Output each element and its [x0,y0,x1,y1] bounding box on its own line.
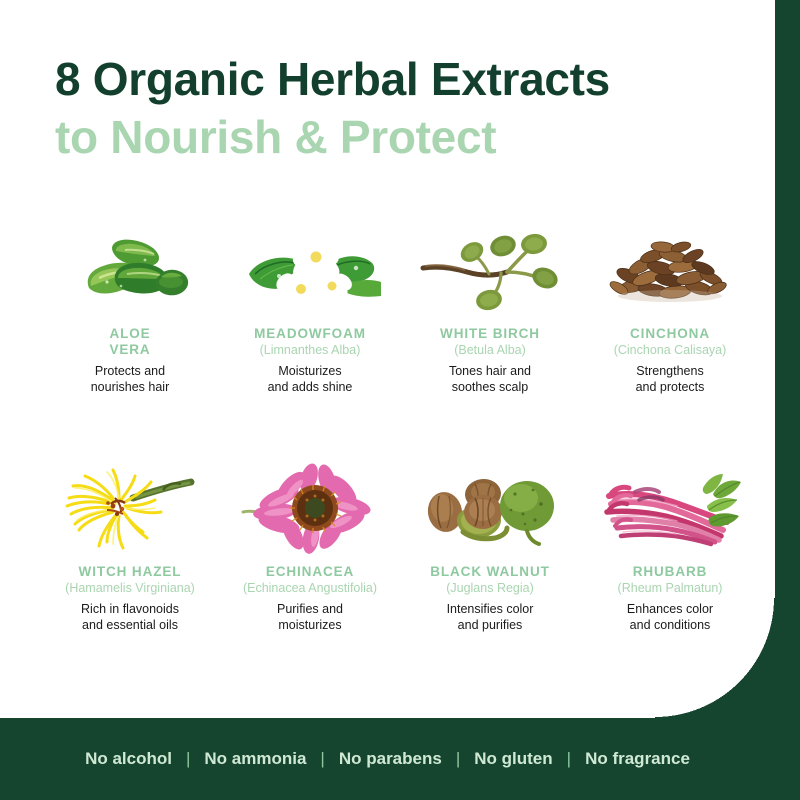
ingredient-name: WHITE BIRCH [440,326,540,342]
claim-no-parabens: No parabens [325,749,456,769]
title-secondary: to Nourish & Protect [55,110,715,164]
ingredient-name: ECHINACEA [266,564,354,580]
ingredient-card-echinacea: ECHINACEA (Echinacea Angustifolia) Purif… [220,454,400,644]
title-primary: 8 Organic Herbal Extracts [55,52,715,106]
ingredient-card-rhubarb: RHUBARB (Rheum Palmatun) Enhances color … [580,454,760,644]
meadowfoam-flower-icon [235,216,385,316]
aloe-vera-leaves-icon [55,216,205,316]
desc-line1: Purifies and [277,601,343,617]
ingredient-latin-name: (Hamamelis Virginiana) [65,580,195,596]
desc-line1: Enhances color [627,601,713,617]
ingredient-description: Protects and nourishes hair [91,363,170,395]
desc-line2: nourishes hair [91,379,170,395]
ingredient-latin-name: (Limnanthes Alba) [260,342,361,358]
ingredient-name: BLACK WALNUT [430,564,550,580]
ingredient-description: Moisturizes and adds shine [268,363,353,395]
desc-line2: soothes scalp [449,379,531,395]
desc-line2: and protects [636,379,705,395]
right-border-strip [775,0,800,800]
ingredient-name: RHUBARB [633,564,708,580]
ingredient-description: Rich in flavonoids and essential oils [81,601,179,633]
desc-line2: and adds shine [268,379,353,395]
ingredient-card-white-birch: WHITE BIRCH (Betula Alba) Tones hair and… [400,216,580,406]
black-walnut-icon [415,454,565,554]
ingredient-name-line1: ALOE [109,326,150,341]
desc-line1: Intensifies color [447,601,534,617]
ingredient-card-black-walnut: BLACK WALNUT (Juglans Regia) Intensifies… [400,454,580,644]
echinacea-flower-icon [235,454,385,554]
ingredient-description: Strengthens and protects [636,363,705,395]
desc-line1: Rich in flavonoids [81,601,179,617]
ingredient-name: MEADOWFOAM [254,326,366,342]
page-title: 8 Organic Herbal Extracts to Nourish & P… [55,52,715,164]
desc-line1: Protects and [91,363,170,379]
claim-no-alcohol: No alcohol [71,749,186,769]
ingredient-latin-name: (Cinchona Calisaya) [614,342,727,358]
ingredient-name: WITCH HAZEL [79,564,182,580]
infographic-poster: 8 Organic Herbal Extracts to Nourish & P… [0,0,800,800]
claim-no-fragrance: No fragrance [571,749,704,769]
desc-line2: and conditions [627,617,713,633]
claim-no-ammonia: No ammonia [190,749,320,769]
ingredient-card-witch-hazel: WITCH HAZEL (Hamamelis Virginiana) Rich … [40,454,220,644]
rhubarb-stalks-icon [595,454,745,554]
ingredient-name: CINCHONA [630,326,710,342]
ingredient-name: ALOE VERA [109,326,150,358]
claims-bar: No alcohol | No ammonia | No parabens | … [0,718,775,800]
ingredient-latin-name: (Betula Alba) [454,342,526,358]
desc-line1: Tones hair and [449,363,531,379]
desc-line1: Strengthens [636,363,705,379]
desc-line2: and essential oils [81,617,179,633]
cinchona-bark-chips-icon [595,216,745,316]
ingredient-latin-name: (Juglans Regia) [446,580,534,596]
ingredient-description: Purifies and moisturizes [277,601,343,633]
ingredient-latin-name: (Echinacea Angustifolia) [243,580,377,596]
desc-line2: and purifies [447,617,534,633]
ingredient-description: Intensifies color and purifies [447,601,534,633]
white-birch-branch-icon [415,216,565,316]
desc-line2: moisturizes [277,617,343,633]
desc-line1: Moisturizes [268,363,353,379]
ingredient-description: Enhances color and conditions [627,601,713,633]
ingredient-name-line2: VERA [109,342,150,357]
ingredient-latin-name: (Rheum Palmatun) [618,580,723,596]
ingredient-card-aloe-vera: ALOE VERA Protects and nourishes hair [40,216,220,406]
ingredient-grid: ALOE VERA Protects and nourishes hair [40,216,760,644]
witch-hazel-flower-icon [55,454,205,554]
ingredient-card-meadowfoam: MEADOWFOAM (Limnanthes Alba) Moisturizes… [220,216,400,406]
ingredient-card-cinchona: CINCHONA (Cinchona Calisaya) Strengthens… [580,216,760,406]
ingredient-description: Tones hair and soothes scalp [449,363,531,395]
claim-no-gluten: No gluten [460,749,566,769]
